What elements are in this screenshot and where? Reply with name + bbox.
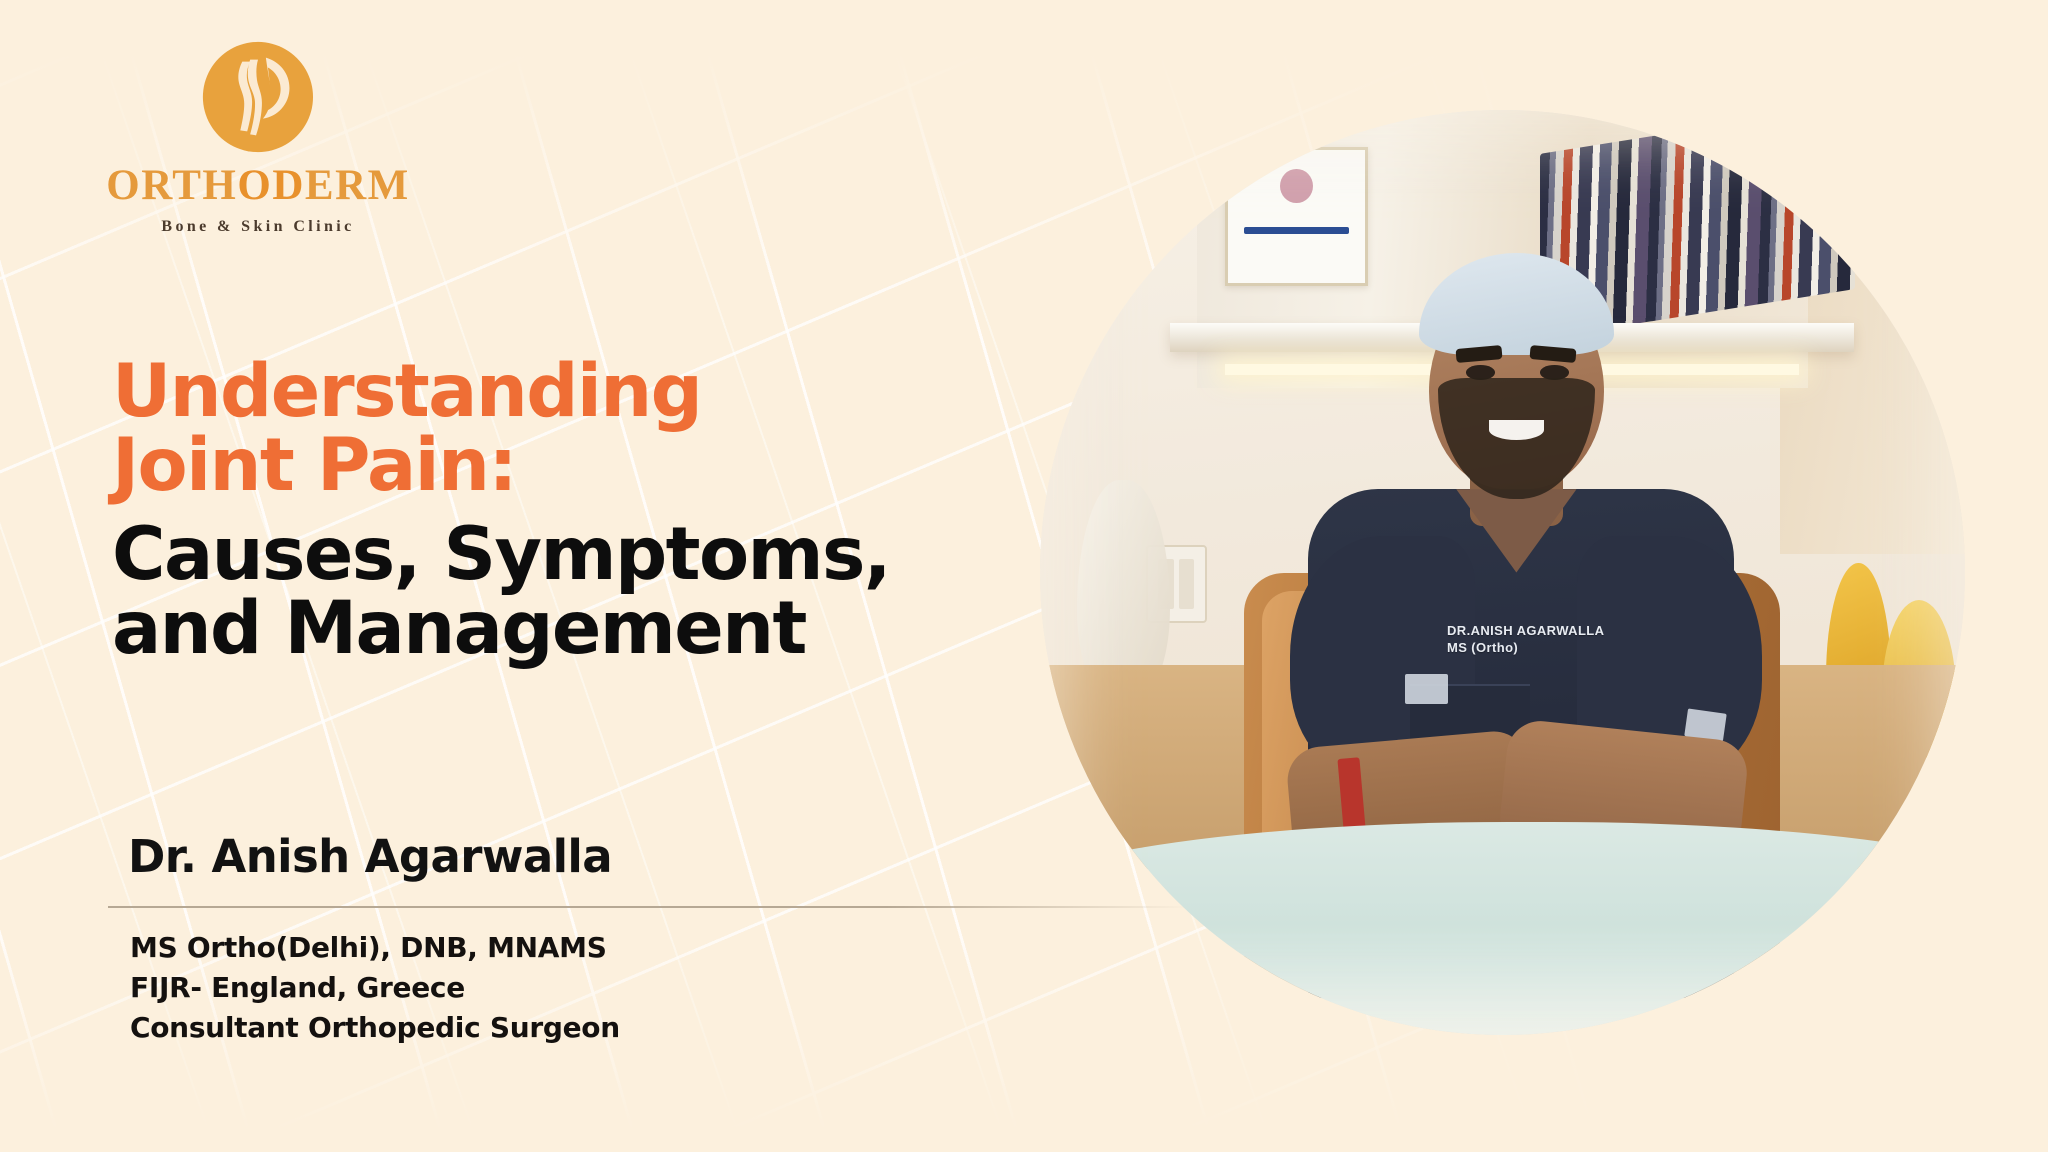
doctor-credentials: MS Ortho(Delhi), DNB, MNAMS FIJR- Englan… [130,928,620,1047]
headline-line-3: Causes, Symptoms, [112,518,1032,592]
logo-word-suffix: ERM [305,162,410,209]
logo-tagline: Bone & Skin Clinic [98,218,418,236]
credential-line-2: FIJR- England, Greece [130,968,620,1008]
doctor-portrait-photo: DR.ANISH AGARWALLA MS (Ortho) [1040,110,1965,1035]
headline-line-1: Understanding [112,355,1032,429]
credential-line-1: MS Ortho(Delhi), DNB, MNAMS [130,928,620,968]
brand-logo: ORTHODERM Bone & Skin Clinic [98,38,418,236]
logo-word-prefix: ORTH [106,162,237,209]
divider-rule [108,906,1188,908]
doctor-name: Dr. Anish Agarwalla [128,830,612,883]
credential-line-3: Consultant Orthopedic Surgeon [130,1008,620,1048]
headline-line-2: Joint Pain: [112,429,1032,503]
page-title: Understanding Joint Pain: Causes, Sympto… [112,355,1032,667]
headline-line-4: and Management [112,592,1032,666]
logo-word-accent: OD [237,162,305,209]
logo-wordmark: ORTHODERM [98,164,418,207]
orthoderm-circle-logo-icon [199,38,317,156]
photo-edge-vignette [1040,110,1965,1035]
